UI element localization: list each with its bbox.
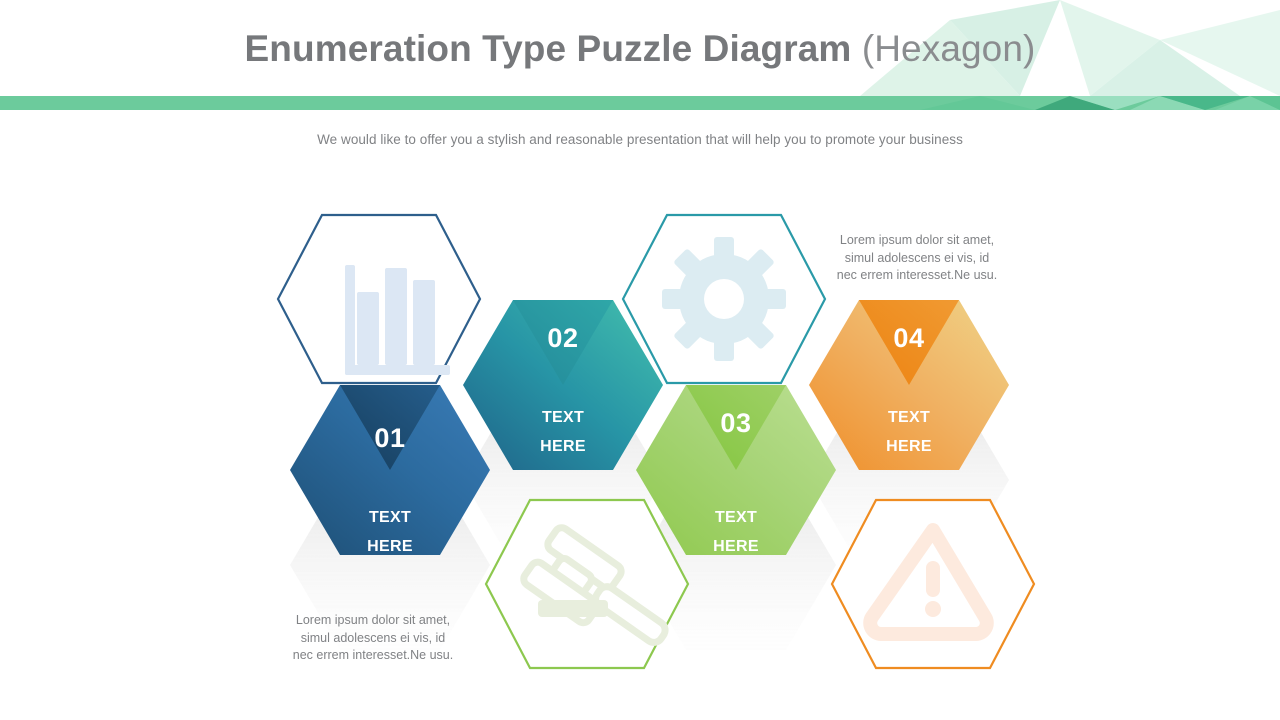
hexagon-01-label-line1: TEXT xyxy=(320,504,460,533)
hexagon-02-label: TEXT HERE xyxy=(493,404,633,461)
hexagon-04-label: TEXT HERE xyxy=(839,404,979,461)
hexagon-02-label-line2: HERE xyxy=(493,433,633,462)
hexagon-03-number: 03 xyxy=(676,408,796,439)
note-left: Lorem ipsum dolor sit amet, simul adoles… xyxy=(253,612,493,665)
hexagon-04-label-line1: TEXT xyxy=(839,404,979,433)
hexagon-02-number: 02 xyxy=(503,323,623,354)
outline-hexagon-bar-chart[interactable] xyxy=(278,215,480,383)
hexagon-01-label-line2: HERE xyxy=(320,533,460,562)
note-right-line2: simul adolescens ei vis, id xyxy=(797,250,1037,268)
hexagon-04-number: 04 xyxy=(849,323,969,354)
hexagon-03-label: TEXT HERE xyxy=(666,504,806,561)
hexagon-puzzle-diagram: 01 TEXT HERE 02 TEXT HERE 03 TEXT HERE 0… xyxy=(0,0,1280,720)
outline-hexagon-gavel[interactable] xyxy=(486,500,688,668)
outline-hexagon-warning[interactable] xyxy=(832,500,1034,668)
note-left-line1: Lorem ipsum dolor sit amet, xyxy=(253,612,493,630)
hexagon-04-label-line2: HERE xyxy=(839,433,979,462)
hexagon-01-label: TEXT HERE xyxy=(320,504,460,561)
note-right-line3: nec errem interesset.Ne usu. xyxy=(797,267,1037,285)
hexagon-03-label-line2: HERE xyxy=(666,533,806,562)
hexagon-03-label-line1: TEXT xyxy=(666,504,806,533)
note-right-line1: Lorem ipsum dolor sit amet, xyxy=(797,232,1037,250)
outline-hexagon-gear[interactable] xyxy=(623,215,825,383)
note-left-line3: nec errem interesset.Ne usu. xyxy=(253,647,493,665)
gear-icon xyxy=(662,237,786,361)
note-left-line2: simul adolescens ei vis, id xyxy=(253,630,493,648)
hexagon-02-label-line1: TEXT xyxy=(493,404,633,433)
note-right: Lorem ipsum dolor sit amet, simul adoles… xyxy=(797,232,1037,285)
hexagon-01-number: 01 xyxy=(330,423,450,454)
